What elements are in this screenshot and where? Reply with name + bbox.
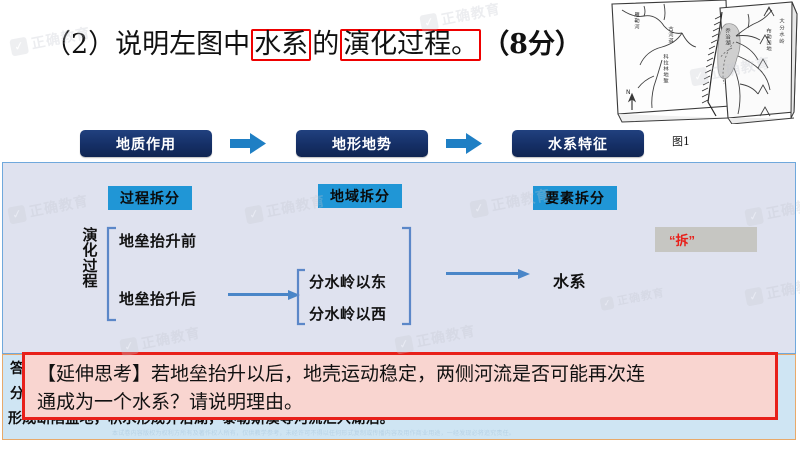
node-after-uplift: 地垒抬升后	[119, 288, 197, 309]
evolution-char: 化	[77, 243, 103, 258]
question-prefix: （2）说明左图中	[44, 29, 250, 60]
figure-caption: 图1	[672, 133, 690, 149]
extension-line-2: 通成为一个水系？请说明理由。	[37, 389, 765, 417]
chain-box-geology[interactable]: 地质作用	[80, 130, 212, 157]
chai-label: “拆”	[655, 230, 695, 249]
svg-text:布勒凹地: 布勒凹地	[765, 27, 772, 52]
arrow-to-region-split	[228, 288, 302, 302]
svg-text:古河道: 古河道	[667, 25, 674, 45]
evolution-process-label: 演 化 过 程	[77, 228, 103, 289]
slide-canvas: ✓ 正确教育 ✓ 正确教育 ✓ 正确教育 ✓ 正确教育 ✓ 正确教育 ✓ 正确教…	[0, 0, 800, 450]
question-highlight-yanhua: 演化过程。	[340, 29, 481, 61]
panel-header-label: 要素拆分	[545, 188, 605, 208]
chain-box-label: 地形地势	[332, 134, 392, 154]
node-east-of-divide: 分水岭以东	[309, 271, 387, 292]
arrow-to-result	[446, 267, 532, 281]
panel-header-element-split[interactable]: 要素拆分	[533, 186, 617, 210]
evolution-char: 过	[77, 259, 103, 274]
block-diagram-svg: N 雁勒河 古河道 科拉林地堑 乔治湖 布勒凹地 大分水岭	[608, 0, 800, 124]
node-drainage-system: 水系	[553, 268, 586, 292]
right-arrow-icon	[444, 132, 484, 155]
chain-box-drainage[interactable]: 水系特征	[512, 130, 644, 157]
extension-question-box: 【延伸思考】若地垒抬升以后，地壳运动稳定，两侧河流是否可能再次连 通成为一个水系…	[22, 352, 778, 420]
evolution-char: 演	[77, 228, 103, 243]
question-line: （2）说明左图中水系的演化过程。（8分）	[44, 22, 582, 61]
copyright-notice: 本试卷内容版权为权利方所有及著作权人所有，仅供教学参考，未经许可不得以任何形式复…	[112, 428, 772, 437]
svg-text:科拉林地堑: 科拉林地堑	[662, 53, 669, 84]
chain-box-landform[interactable]: 地形地势	[296, 130, 428, 157]
block-diagram-figure: N 雁勒河 古河道 科拉林地堑 乔治湖 布勒凹地 大分水岭	[608, 0, 800, 124]
bracket-region-left	[294, 268, 306, 326]
chain-box-label: 水系特征	[548, 134, 608, 154]
question-highlight-shuixi: 水系	[251, 29, 311, 61]
question-score: （8分）	[482, 29, 582, 60]
bracket-elements-right	[400, 226, 414, 326]
chai-callout-box: “拆”	[655, 227, 757, 252]
question-mid: 的	[312, 29, 339, 60]
extension-line-1: 【延伸思考】若地垒抬升以后，地壳运动稳定，两侧河流是否可能再次连	[37, 361, 765, 389]
evolution-char: 程	[77, 274, 103, 289]
panel-header-label: 过程拆分	[120, 188, 180, 208]
right-arrow-icon	[228, 132, 268, 155]
svg-text:乔治湖: 乔治湖	[724, 28, 731, 47]
panel-header-process-split[interactable]: 过程拆分	[108, 186, 192, 210]
node-west-of-divide: 分水岭以西	[309, 303, 387, 324]
chain-box-label: 地质作用	[116, 134, 176, 154]
panel-header-region-split[interactable]: 地域拆分	[318, 184, 402, 208]
panel-header-label: 地域拆分	[330, 186, 390, 206]
node-before-uplift: 地垒抬升前	[119, 230, 197, 251]
svg-text:雁勒河: 雁勒河	[633, 12, 640, 30]
svg-text:N: N	[626, 89, 631, 96]
svg-text:大分水岭: 大分水岭	[778, 17, 785, 45]
bracket-evolution	[104, 226, 118, 322]
watermark-check-icon: ✓	[9, 36, 29, 56]
